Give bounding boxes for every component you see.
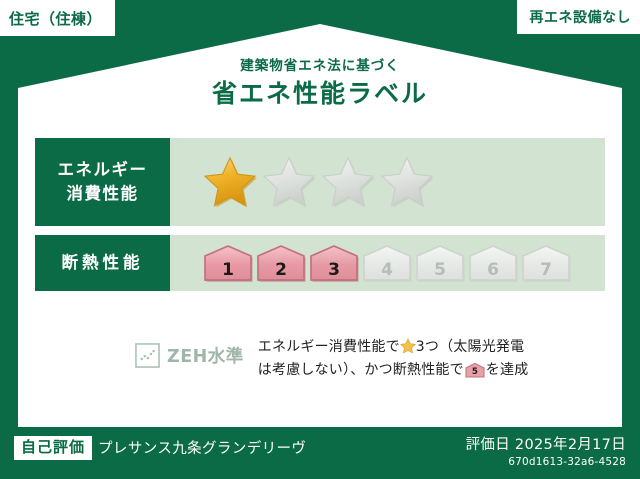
footer-right-group: 評価日 2025年2月17日 670d1613-32a6-4528 (466, 433, 626, 468)
insulation-grade-number: 2 (275, 260, 287, 280)
zeh-standard-row: ZEH水準 エネルギー消費性能で3つ（太陽光発電 は考慮しない）、かつ断熱性能で… (135, 336, 528, 381)
energy-label-line1: エネルギー (58, 158, 148, 182)
zeh-badge: ZEH水準 (135, 343, 244, 368)
insulation-grade-number: 1 (222, 260, 234, 280)
zeh-desc-text-c: は考慮しない）、かつ断熱性能で (258, 362, 464, 378)
insulation-grade-number: 7 (540, 260, 552, 280)
building-type-tag: 住宅（住棟） (0, 0, 115, 36)
insulation-grade-number: 3 (328, 260, 340, 280)
zeh-desc-text-b: 3つ（太陽光発電 (416, 339, 525, 355)
zeh-desc-text-d: を達成 (486, 362, 529, 378)
zeh-description: エネルギー消費性能で3つ（太陽光発電 は考慮しない）、かつ断熱性能で5を達成 (258, 336, 529, 381)
label-subtitle: 建築物省エネ法に基づく (0, 58, 640, 74)
energy-consumption-label: エネルギー 消費性能 (35, 138, 170, 226)
zeh-check-icon (135, 343, 160, 368)
inline-grade-number: 5 (472, 367, 478, 377)
star-icon-empty (320, 155, 376, 209)
label-footer: 自己評価 プレサンス九条グランデリーヴ 評価日 2025年2月17日 670d1… (0, 427, 640, 479)
evaluation-date-label: 評価日 (466, 437, 510, 453)
star-icon-empty (261, 155, 317, 209)
zeh-description-line2: は考慮しない）、かつ断熱性能で5を達成 (258, 359, 529, 382)
star-icon-filled (202, 155, 258, 209)
insulation-grade-empty: 5 (414, 243, 466, 283)
evaluation-date-value: 2025年2月17日 (515, 437, 626, 453)
insulation-grade-empty: 4 (361, 243, 413, 283)
star-icon-empty (379, 155, 435, 209)
energy-consumption-value (170, 138, 605, 226)
star-rating (202, 155, 435, 209)
energy-consumption-row: エネルギー 消費性能 (35, 138, 605, 226)
evaluation-date: 評価日 2025年2月17日 (466, 433, 626, 454)
insulation-grade-number: 5 (434, 260, 446, 280)
insulation-grade-number: 6 (487, 260, 499, 280)
page-title: 省エネ性能ラベル (0, 78, 640, 111)
zeh-desc-text-a: エネルギー消費性能で (258, 339, 400, 355)
renewable-equipment-tag: 再エネ設備なし (517, 0, 640, 34)
zeh-description-line1: エネルギー消費性能で3つ（太陽光発電 (258, 336, 529, 359)
energy-performance-label: 住宅（住棟） 再エネ設備なし 建築物省エネ法に基づく 省エネ性能ラベル エネルギ… (0, 0, 640, 479)
insulation-grade-empty: 7 (520, 243, 572, 283)
insulation-performance-value: 1234567 (170, 235, 605, 291)
document-id: 670d1613-32a6-4528 (466, 456, 626, 468)
rating-rows: エネルギー 消費性能 断熱性能 1234567 (35, 138, 605, 300)
energy-label-line2: 消費性能 (67, 182, 139, 206)
zeh-standard-label: ZEH水準 (167, 343, 244, 368)
self-evaluation-badge: 自己評価 (14, 436, 92, 460)
insulation-grade-filled: 1 (202, 243, 254, 283)
insulation-grade-empty: 6 (467, 243, 519, 283)
insulation-performance-label: 断熱性能 (35, 235, 170, 291)
insulation-grade-filled: 2 (255, 243, 307, 283)
label-title-block: 建築物省エネ法に基づく 省エネ性能ラベル (0, 58, 640, 111)
insulation-performance-row: 断熱性能 1234567 (35, 235, 605, 291)
insulation-grade-filled: 3 (308, 243, 360, 283)
footer-left-group: 自己評価 プレサンス九条グランデリーヴ (14, 436, 306, 460)
insulation-grade-scale: 1234567 (202, 243, 573, 283)
star-icon (400, 338, 416, 354)
insulation-grade-number: 4 (381, 260, 393, 280)
insulation-grade-icon: 5 (465, 362, 485, 378)
building-name: プレサンス九条グランデリーヴ (98, 437, 306, 458)
